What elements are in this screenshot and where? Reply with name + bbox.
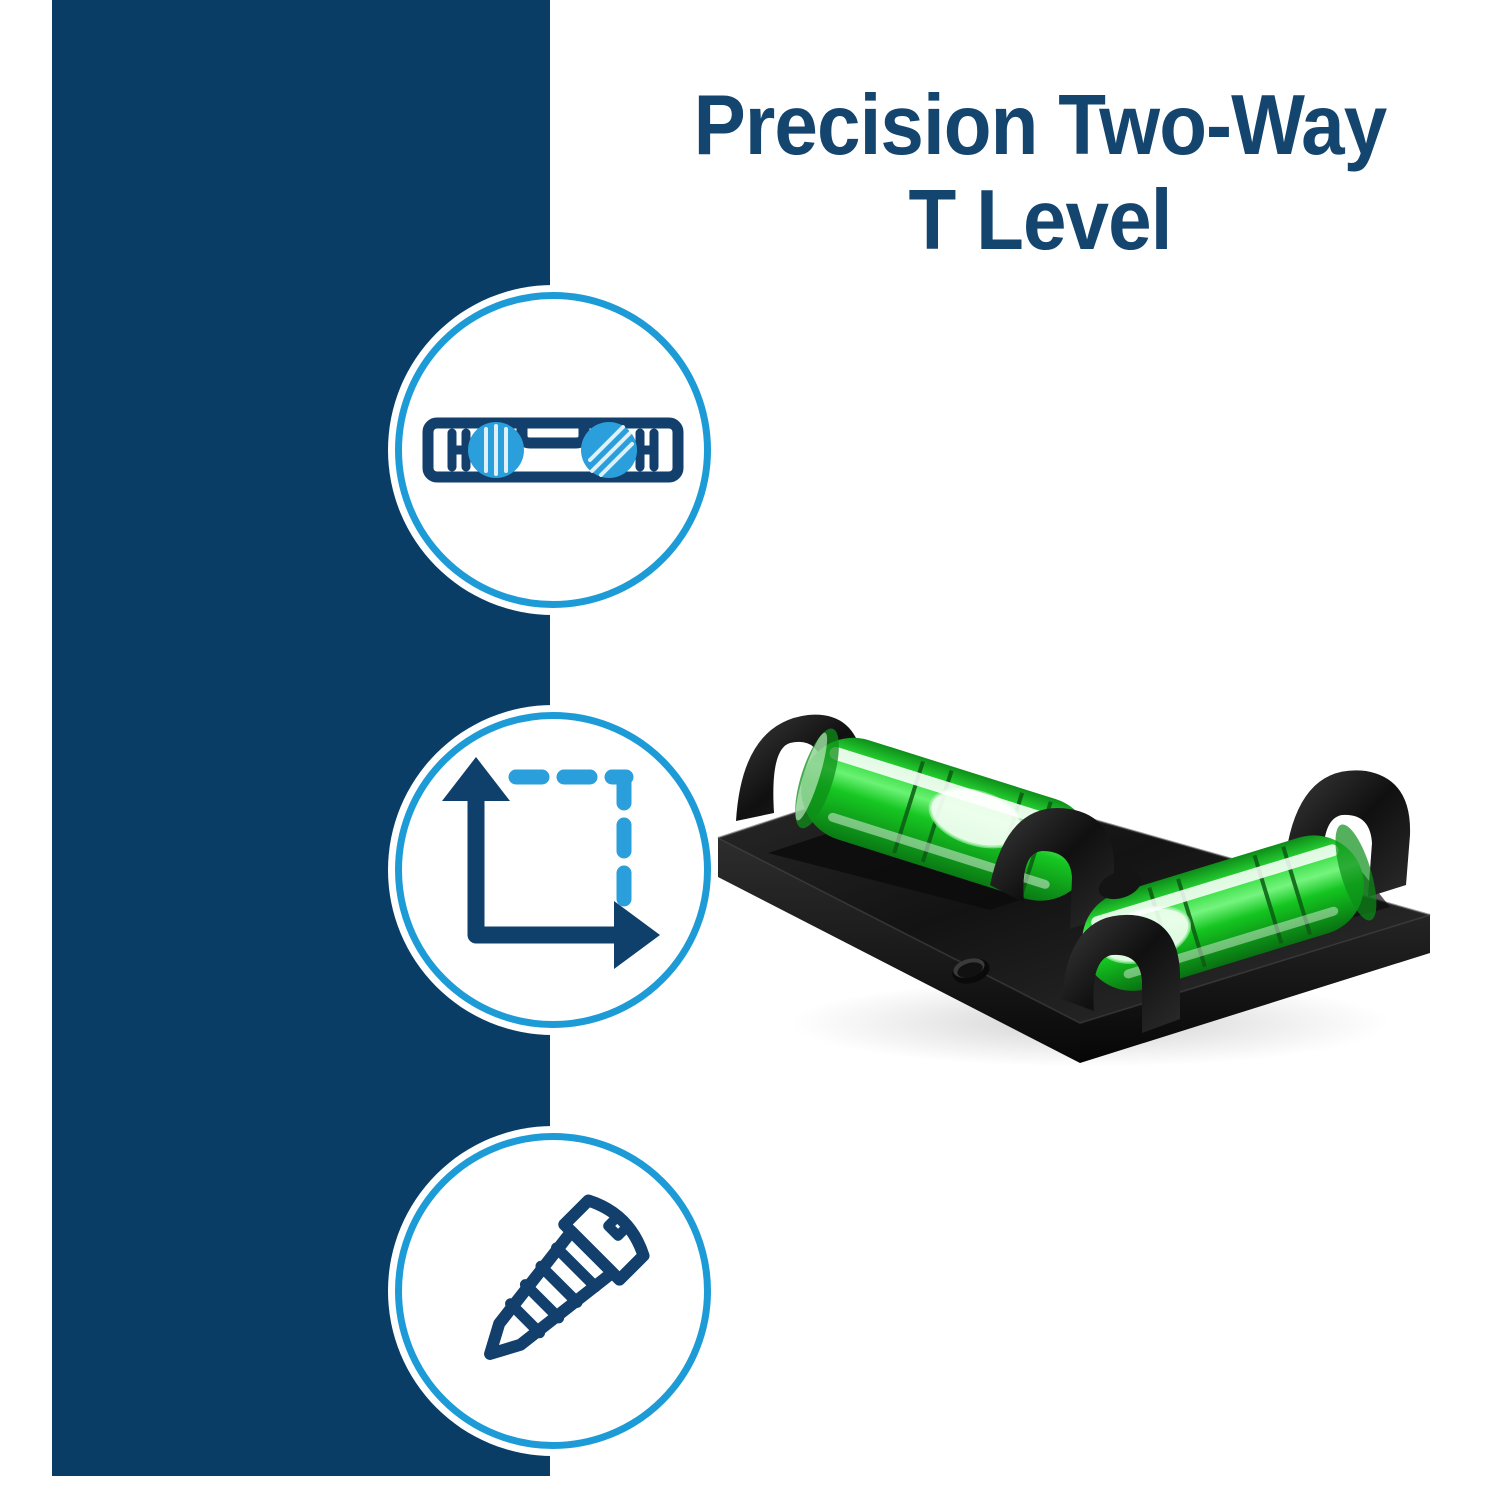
title-line-1: Precision Two-Way [635, 78, 1445, 173]
feature-3-icon-circle [395, 1133, 711, 1449]
title-line-2: T Level [635, 173, 1445, 268]
screw-icon [428, 1166, 678, 1416]
page-title: Precision Two-Way T Level [635, 78, 1445, 268]
feature-screw-mount: Mounts with screws [60, 1133, 710, 1453]
product-image [690, 585, 1480, 1085]
feature-shows-when-level: Shows when the RV is level [60, 292, 710, 612]
feature-mounting-orientation: Front-to-back or side-to-side mounting [60, 712, 710, 1032]
feature-1-icon-circle [395, 292, 711, 608]
infographic-canvas: Precision Two-Way T Level Shows when the… [0, 0, 1500, 1500]
feature-2-icon-circle [395, 712, 711, 1028]
spirit-level-icon [408, 305, 698, 595]
two-axis-arrows-icon [428, 745, 678, 995]
